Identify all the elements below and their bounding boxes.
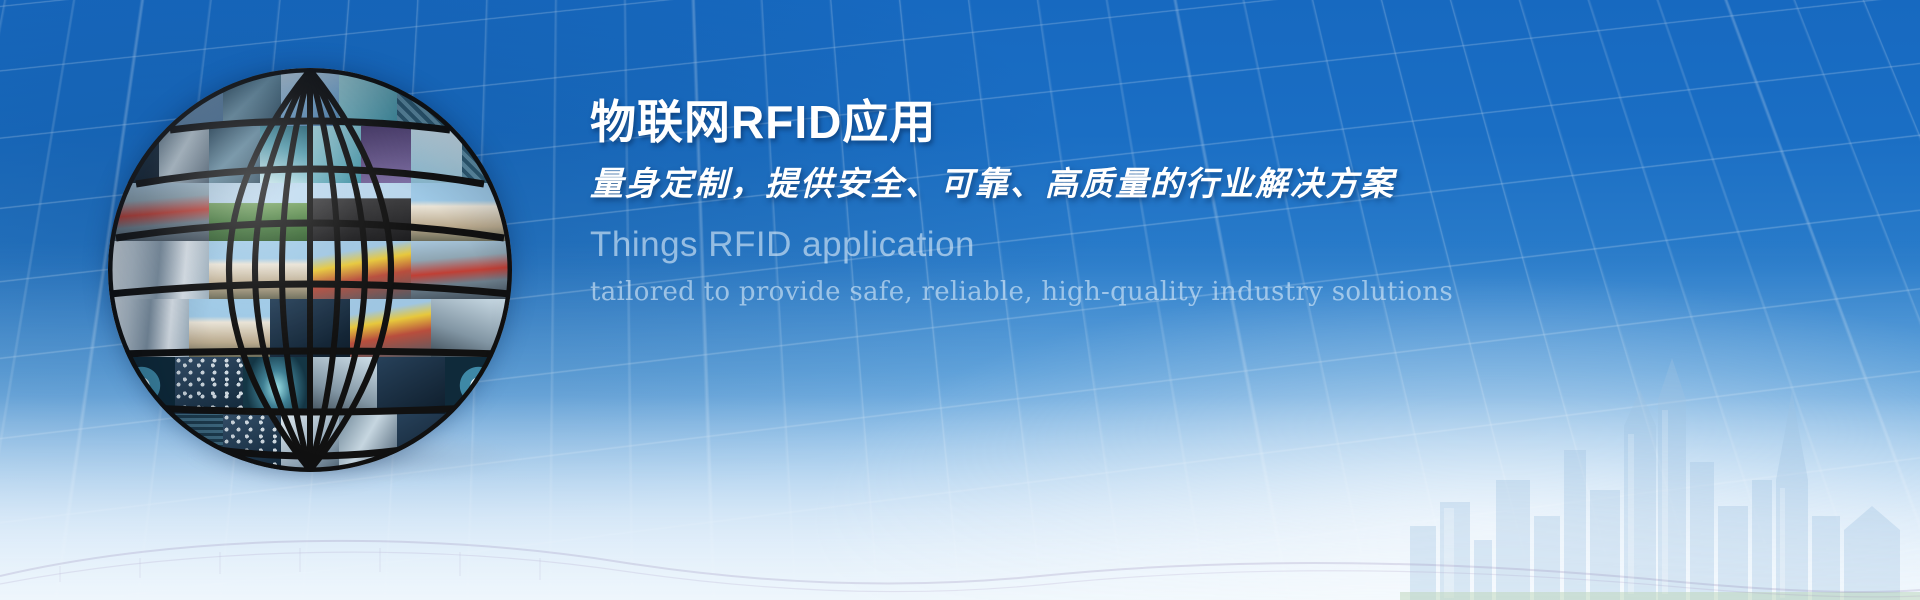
banner-title-chinese: 物联网RFID应用	[590, 96, 1890, 149]
hero-banner: 物联网RFID应用 量身定制，提供安全、可靠、高质量的行业解决方案 Things…	[0, 0, 1920, 600]
banner-subtitle-english: Things RFID application	[590, 226, 1890, 265]
bridge-wave-graphic	[0, 490, 1920, 600]
banner-subtitle-chinese: 量身定制，提供安全、可靠、高质量的行业解决方案	[590, 163, 1890, 204]
globe-frame-lines	[108, 68, 512, 472]
banner-copy: 物联网RFID应用 量身定制，提供安全、可靠、高质量的行业解决方案 Things…	[590, 96, 1890, 308]
rfid-photo-globe	[108, 68, 512, 472]
banner-tagline-english: tailored to provide safe, reliable, high…	[590, 277, 1890, 308]
